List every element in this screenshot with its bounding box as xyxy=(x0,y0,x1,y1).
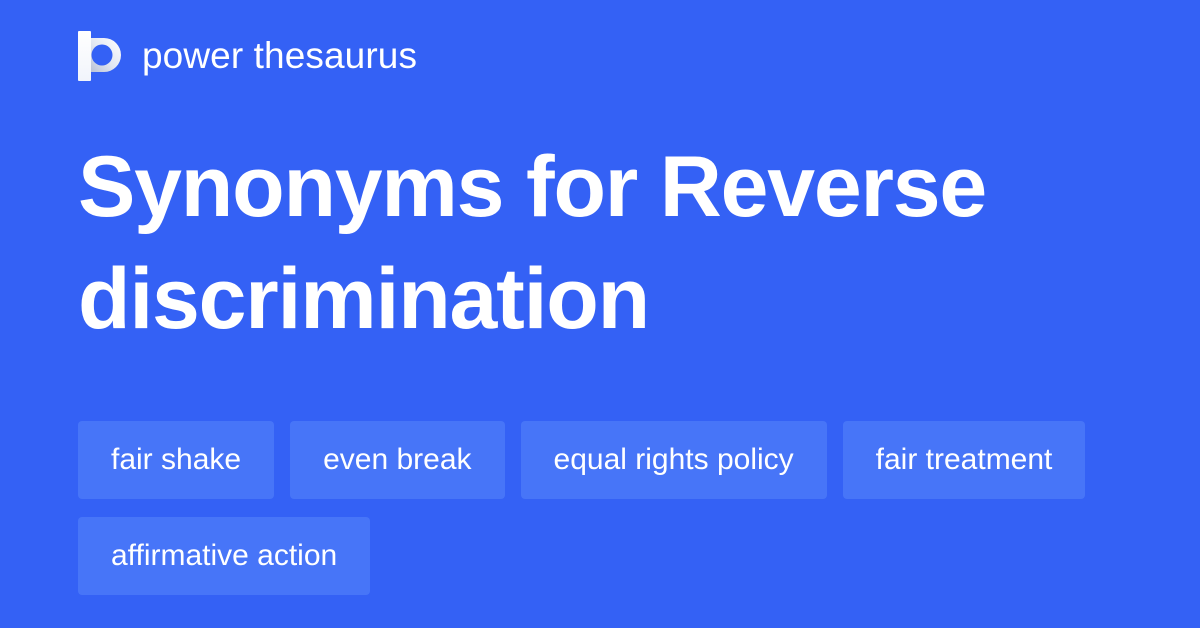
synonym-chip[interactable]: fair shake xyxy=(78,421,274,499)
synonym-chip[interactable]: even break xyxy=(290,421,504,499)
synonym-chip-list: fair shake even break equal rights polic… xyxy=(78,421,1128,595)
brand-lockup[interactable]: power thesaurus xyxy=(78,27,417,85)
synonym-chip[interactable]: equal rights policy xyxy=(521,421,827,499)
synonym-chip[interactable]: fair treatment xyxy=(843,421,1086,499)
page-title: Synonyms for Reverse discrimination xyxy=(78,131,1088,355)
open-graph-card: power thesaurus Synonyms for Reverse dis… xyxy=(0,0,1200,628)
synonym-chip[interactable]: affirmative action xyxy=(78,517,370,595)
brand-name: power thesaurus xyxy=(142,34,417,78)
power-thesaurus-b-logo-icon xyxy=(78,31,124,81)
